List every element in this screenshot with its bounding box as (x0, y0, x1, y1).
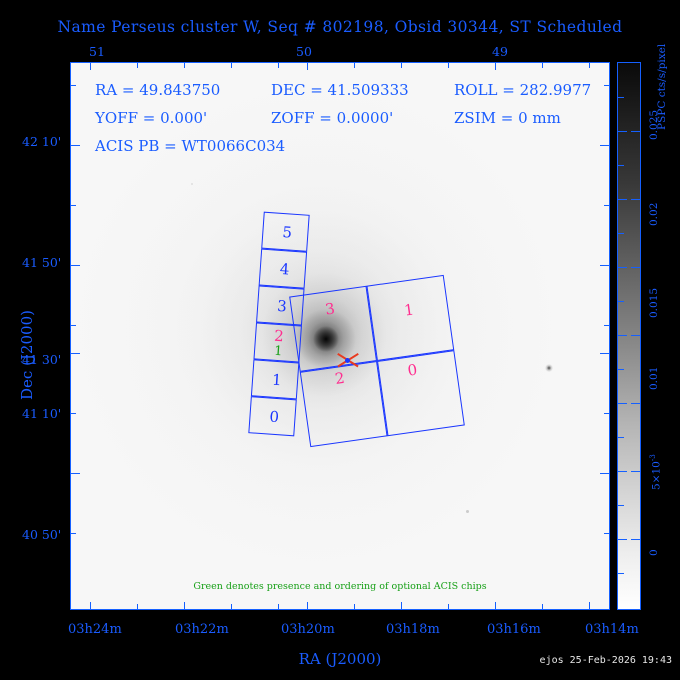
x-tick-label-2: 03h20m (281, 622, 335, 637)
y-tick-label-0: 42 10' (22, 134, 61, 149)
colorbar-tick-0: 0.025 (648, 110, 660, 140)
acis-i-chip-2[interactable]: 2 (300, 361, 388, 447)
acis-s-chip-5[interactable]: 5 (261, 212, 309, 252)
x-tick-label-3: 03h18m (386, 622, 440, 637)
y-tick-label-3: 41 10' (22, 406, 61, 421)
acis-s-chip-4[interactable]: 4 (259, 249, 307, 289)
page-title: Name Perseus cluster W, Seq # 802198, Ob… (0, 18, 680, 36)
y-axis-title: Dec (J2000) (18, 310, 36, 400)
colorbar-tick-5: 0 (648, 549, 660, 556)
acis-s-chip-1-label: 1 (272, 373, 283, 389)
obsvis-window: Name Perseus cluster W, Seq # 802198, Ob… (0, 0, 680, 680)
acis-s-chip-0[interactable]: 0 (248, 396, 296, 436)
acis-i-chip-1-label: 1 (403, 302, 415, 318)
sky-image-plot[interactable]: RA = 49.843750 DEC = 41.509333 ROLL = 28… (70, 62, 610, 610)
colorbar-tick-2: 0.015 (648, 288, 660, 318)
acis-s-chip-1[interactable]: 1 (251, 359, 299, 399)
acis-s-chip-2-order-label: 1 (274, 345, 283, 359)
aimpoint-marker[interactable] (335, 347, 361, 373)
timestamp: ejos 25-Feb-2026 19:43 (540, 655, 672, 666)
top-tick-label-0: 51 (89, 44, 105, 59)
legend-caption: Green denotes presence and ordering of o… (71, 581, 609, 592)
colorbar[interactable] (617, 62, 641, 610)
colorbar-tick-3: 0.01 (648, 367, 660, 390)
acis-s-chip-3-label: 3 (277, 299, 288, 315)
acis-i-chip-1[interactable]: 1 (366, 275, 454, 361)
acis-i-chip-0[interactable]: 0 (377, 350, 465, 436)
x-tick-label-5: 03h14m (585, 622, 639, 637)
x-tick-label-1: 03h22m (175, 622, 229, 637)
colorbar-tick-1: 0.02 (648, 203, 660, 226)
colorbar-tick-4: 5×10-3 (648, 454, 663, 490)
y-tick-label-1: 41 50' (22, 255, 61, 270)
y-tick-label-4: 40 50' (22, 527, 61, 542)
acis-i-chip-3[interactable]: 3 (289, 286, 377, 372)
acis-i-chip-2-label: 2 (334, 371, 346, 387)
x-tick-label-4: 03h16m (487, 622, 541, 637)
acis-i-chip-0-label: 0 (407, 363, 419, 379)
acis-i-chip-3-label: 3 (324, 301, 336, 317)
acis-s-chip-5-label: 5 (282, 225, 293, 241)
acis-s-chip-4-label: 4 (279, 262, 290, 278)
aimpoint-dot (345, 358, 350, 363)
acis-s-chip-0-label: 0 (269, 410, 280, 426)
acis-s-chip-2-label: 2 (274, 329, 285, 345)
acis-chip-overlay[interactable]: 5 4 3 2 1 1 0 (71, 63, 610, 610)
top-tick-label-1: 50 (296, 44, 312, 59)
top-tick-label-2: 49 (492, 44, 508, 59)
x-tick-label-0: 03h24m (68, 622, 122, 637)
